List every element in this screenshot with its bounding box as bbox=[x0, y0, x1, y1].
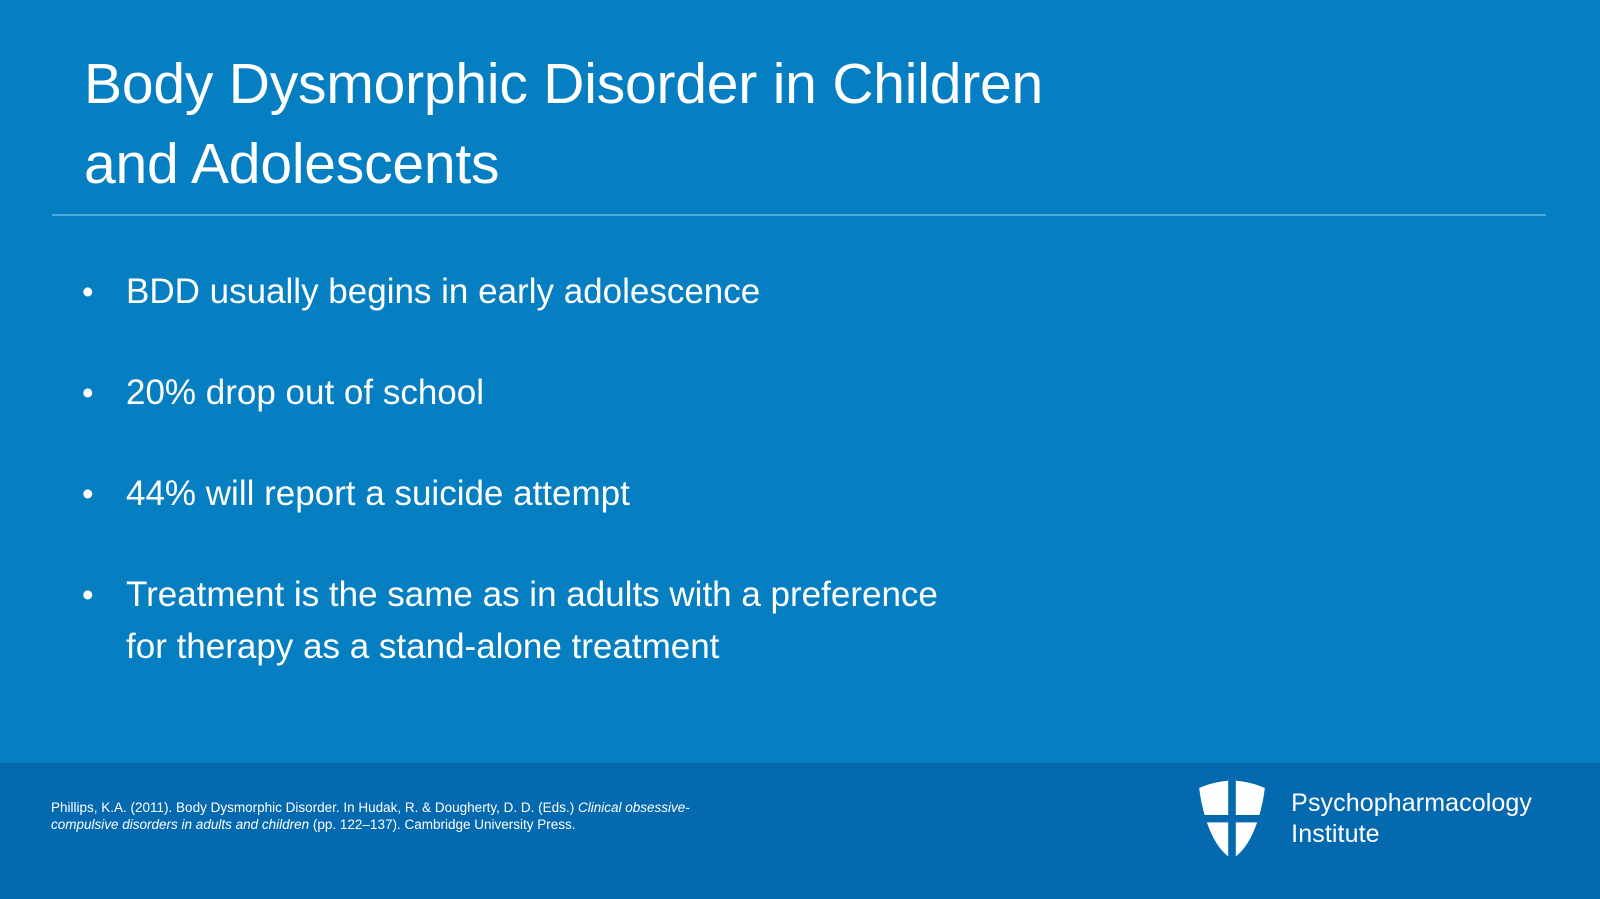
brand-logo-text: Psychopharmacology Institute bbox=[1291, 788, 1532, 850]
brand-logo: Psychopharmacology Institute bbox=[1195, 779, 1532, 859]
bullet-marker-icon: • bbox=[78, 367, 126, 419]
title-block: Body Dysmorphic Disorder in Children and… bbox=[84, 44, 1184, 204]
list-item-label: Treatment is the same as in adults with … bbox=[126, 569, 1258, 673]
list-item-label: BDD usually begins in early adolescence bbox=[126, 266, 1258, 318]
list-item: • Treatment is the same as in adults wit… bbox=[78, 569, 1258, 673]
bullet-marker-icon: • bbox=[78, 468, 126, 520]
citation-part-1: Phillips, K.A. (2011). Body Dysmorphic D… bbox=[51, 800, 578, 815]
list-item: • BDD usually begins in early adolescenc… bbox=[78, 266, 1258, 318]
citation-part-2: (pp. 122–137). Cambridge University Pres… bbox=[309, 817, 575, 832]
shield-logo-icon bbox=[1195, 779, 1269, 859]
slide-canvas: Body Dysmorphic Disorder in Children and… bbox=[0, 0, 1600, 899]
bullet-list: • BDD usually begins in early adolescenc… bbox=[78, 266, 1258, 673]
list-item-label: 44% will report a suicide attempt bbox=[126, 468, 1258, 520]
list-item: • 44% will report a suicide attempt bbox=[78, 468, 1258, 520]
citation-reference: Phillips, K.A. (2011). Body Dysmorphic D… bbox=[51, 799, 751, 833]
list-item-label: 20% drop out of school bbox=[126, 367, 1258, 419]
page-title: Body Dysmorphic Disorder in Children and… bbox=[84, 44, 1184, 204]
bullet-marker-icon: • bbox=[78, 569, 126, 621]
bullet-marker-icon: • bbox=[78, 266, 126, 318]
title-divider-rule bbox=[52, 214, 1546, 216]
list-item: • 20% drop out of school bbox=[78, 367, 1258, 419]
